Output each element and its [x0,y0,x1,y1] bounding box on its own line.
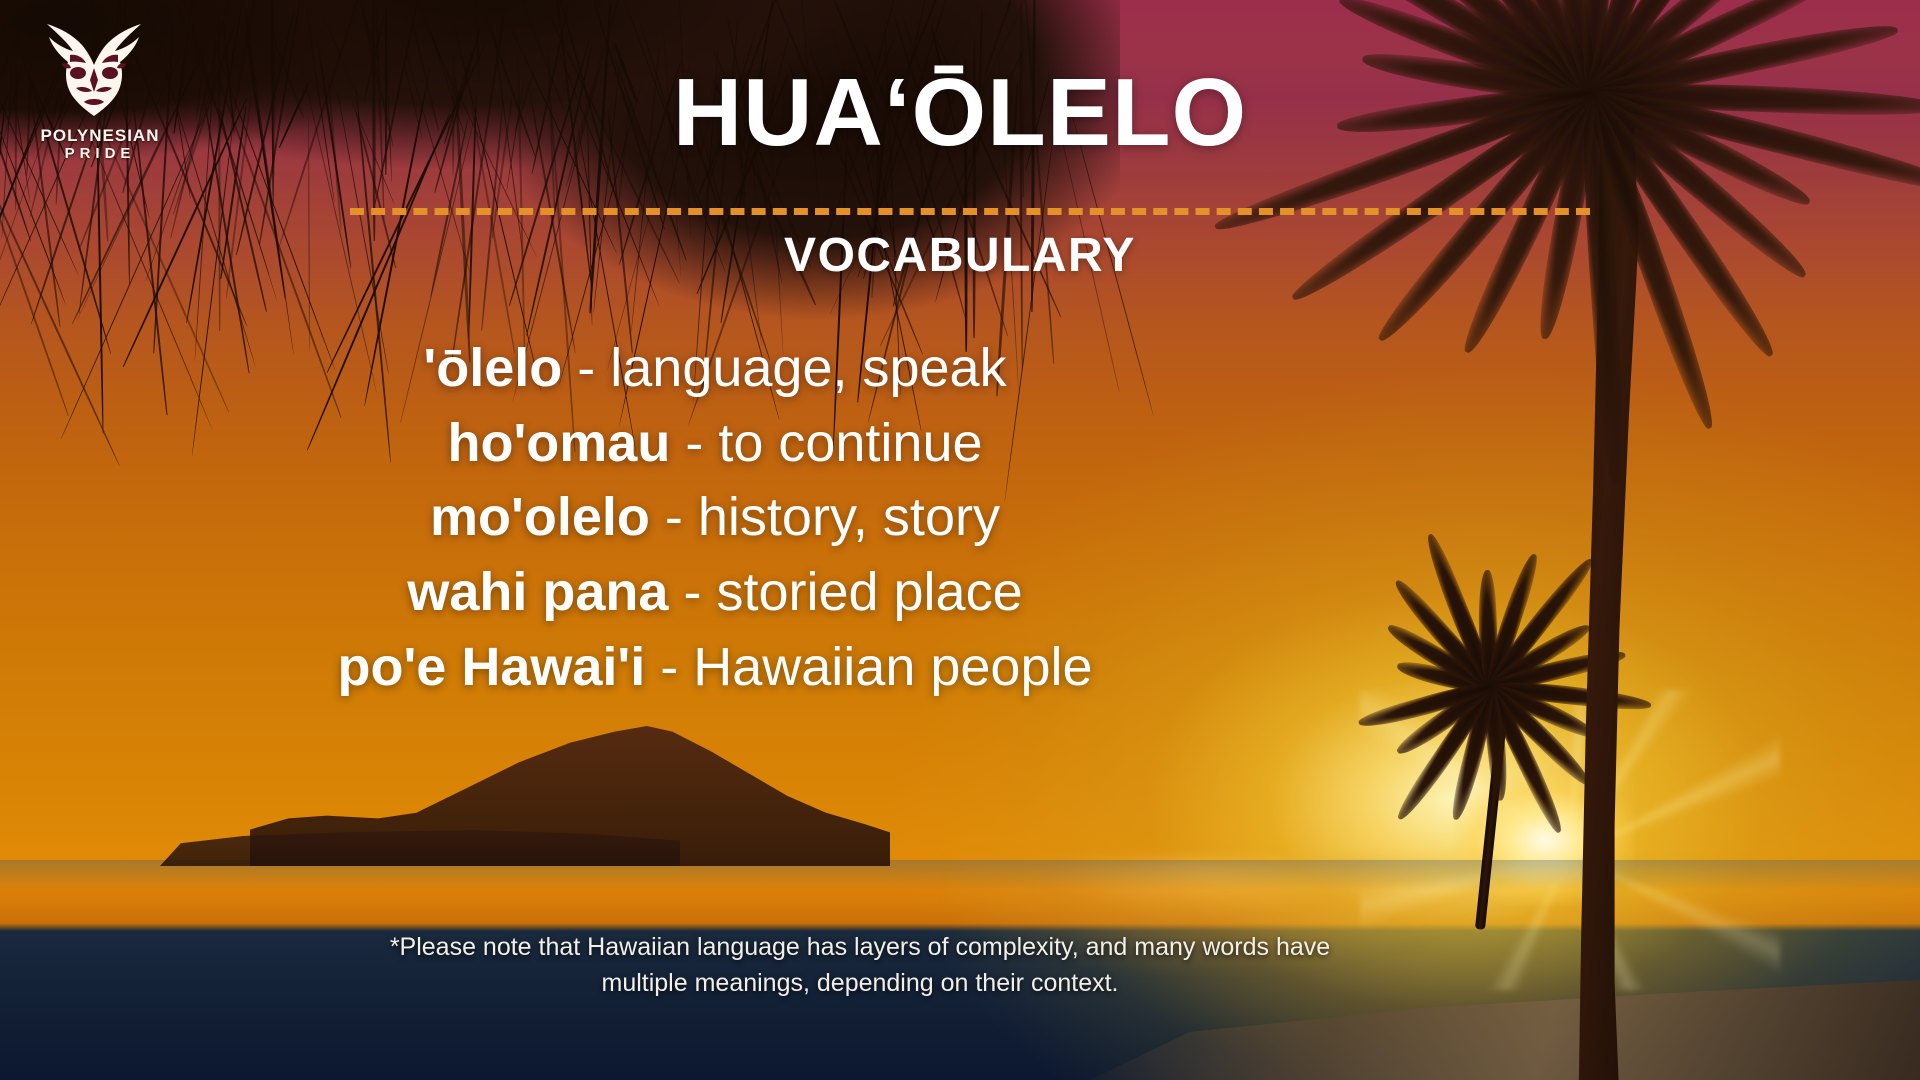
vocabulary-term: wahi pana [407,562,668,622]
vocabulary-definition: Hawaiian people [693,637,1092,697]
vocabulary-separator: - [645,637,693,697]
vocabulary-definition: language, speak [610,338,1006,398]
vocabulary-entry: wahi pana - storied place [407,564,1022,621]
dashed-divider [350,208,1590,215]
vocabulary-entry: po'e Hawai'i - Hawaiian people [337,639,1092,696]
vocabulary-definition: history, story [698,487,1000,547]
vocabulary-definition: storied place [716,562,1022,622]
vocabulary-separator: - [562,338,610,398]
vocabulary-term: po'e Hawai'i [337,637,645,697]
vocabulary-list: 'ōlelo - language, speakho'omau - to con… [0,340,1430,695]
vocabulary-graphic: POLYNESIAN PRIDE HUAʻŌLELO VOCABULARY 'ō… [0,0,1920,1080]
footnote-line-2: multiple meanings, depending on their co… [330,966,1390,1002]
page-title: HUAʻŌLELO [0,58,1920,168]
vocabulary-entry: 'ōlelo - language, speak [423,340,1006,397]
vocabulary-separator: - [668,562,716,622]
footnote-line-1: *Please note that Hawaiian language has … [330,930,1390,966]
vocabulary-separator: - [670,413,718,473]
vocabulary-entry: ho'omau - to continue [447,415,982,472]
vocabulary-entry: mo'olelo - history, story [430,489,1000,546]
footnote: *Please note that Hawaiian language has … [330,930,1390,1001]
vocabulary-term: 'ōlelo [423,338,562,398]
page-subtitle: VOCABULARY [0,228,1920,283]
vocabulary-separator: - [650,487,698,547]
vocabulary-term: mo'olelo [430,487,650,547]
vocabulary-definition: to continue [718,413,982,473]
vocabulary-term: ho'omau [447,413,670,473]
